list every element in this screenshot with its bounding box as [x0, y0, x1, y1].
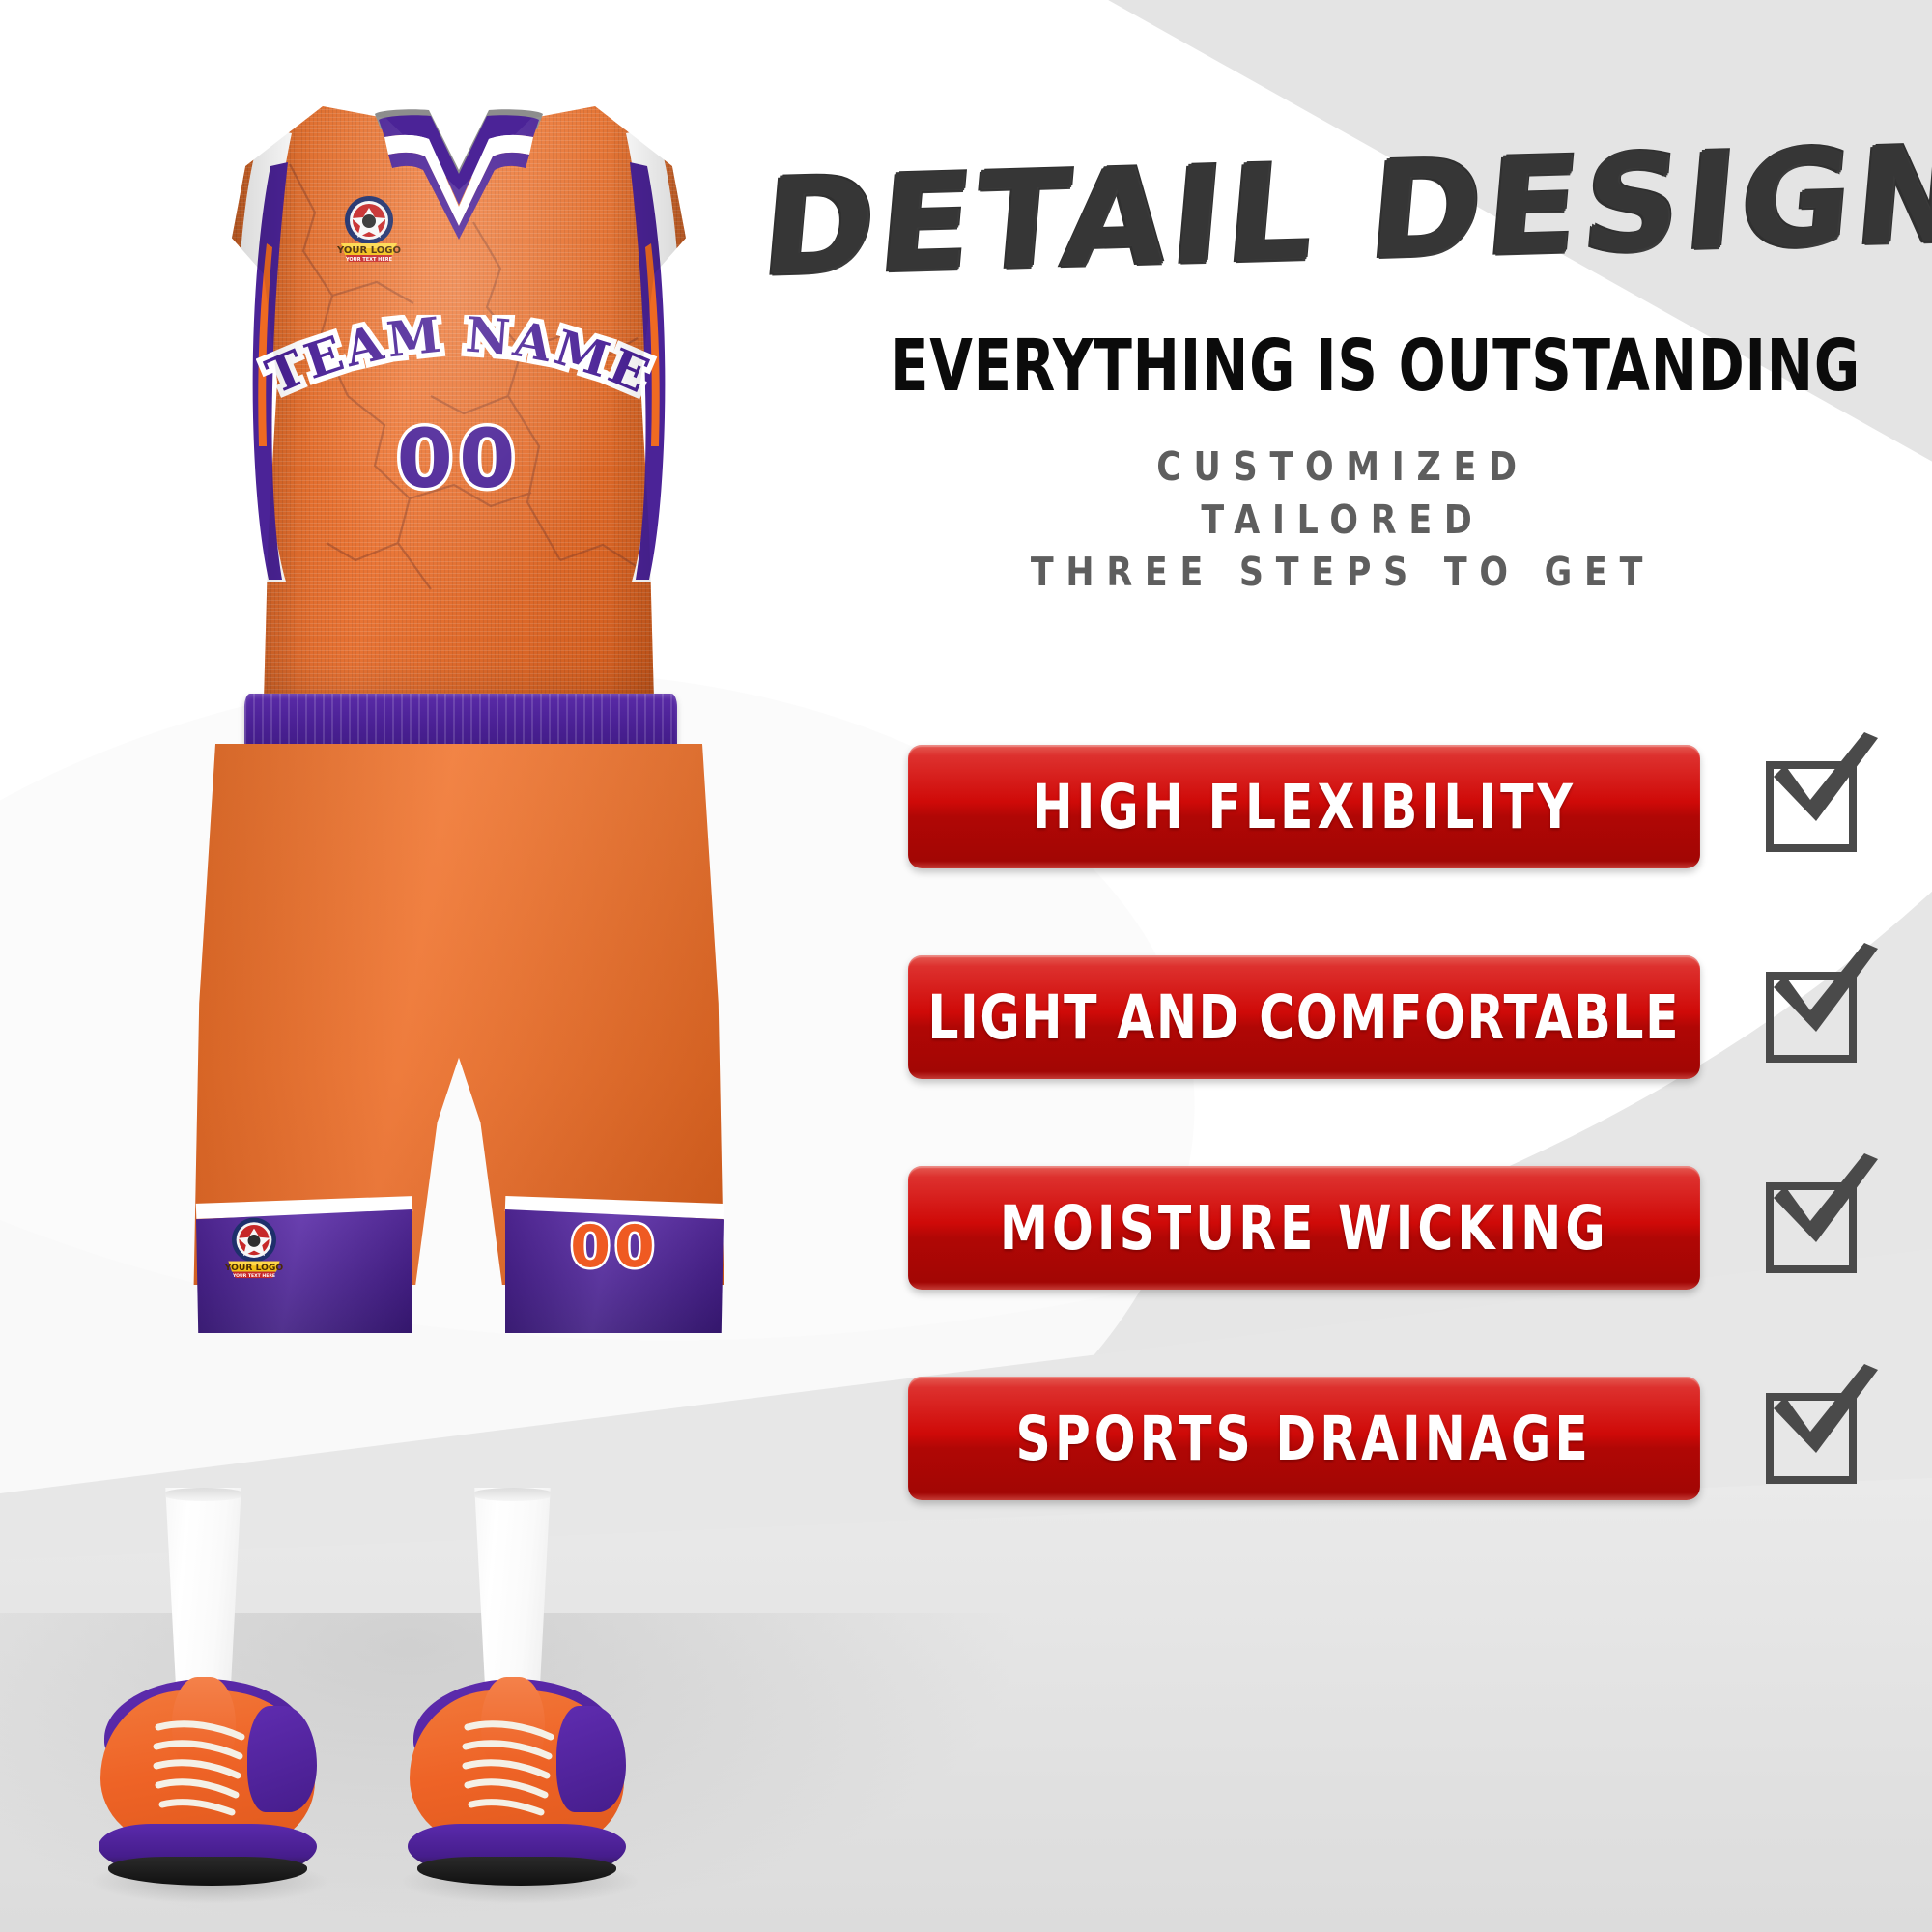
feature-label: MOISTURE WICKING: [1000, 1193, 1609, 1264]
shoe-heel: [556, 1706, 626, 1812]
tagline-line-2: TAILORED: [850, 494, 1835, 547]
shoes-mockup: [87, 1488, 763, 1903]
page-title: DETAIL DESIGN: [757, 128, 1928, 295]
shoe-right: [406, 1488, 628, 1893]
jersey-team-name-arc: TEAM NAME: [256, 315, 662, 408]
svg-text:YOUR LOGO: YOUR LOGO: [336, 245, 401, 256]
jersey-team-name-text: TEAM NAME: [258, 315, 659, 405]
uniform-mockup: YOUR LOGO YOUR TEXT HERE TEAM NAME 00: [188, 106, 729, 1323]
shoe-heel: [247, 1706, 317, 1812]
shoe-laces-icon: [458, 1716, 566, 1822]
check-icon: [1760, 939, 1886, 1055]
svg-text:YOUR TEXT HERE: YOUR TEXT HERE: [345, 257, 393, 263]
svg-text:YOUR TEXT HERE: YOUR TEXT HERE: [232, 1273, 275, 1279]
jersey-number: 00: [314, 412, 604, 506]
svg-text:YOUR LOGO: YOUR LOGO: [224, 1263, 284, 1273]
feature-bar-sports-drainage[interactable]: SPORTS DRAINAGE: [908, 1377, 1700, 1500]
feature-label: HIGH FLEXIBILITY: [1032, 772, 1577, 842]
headline-panel: DETAIL DESIGN EVERYTHING IS OUTSTANDING …: [763, 145, 1922, 599]
feature-bar-moisture-wicking[interactable]: MOISTURE WICKING: [908, 1166, 1700, 1290]
feature-list: HIGH FLEXIBILITY LIGHT AND COMFORTABLE: [908, 744, 1893, 1586]
shorts-mockup: YOUR LOGO YOUR TEXT HERE 00: [188, 744, 729, 1333]
page-subtitle: EVERYTHING IS OUTSTANDING: [891, 325, 1795, 408]
product-detail-banner: DETAIL DESIGN EVERYTHING IS OUTSTANDING …: [0, 0, 1932, 1932]
shoe-laces-icon: [149, 1716, 257, 1822]
shorts-number-text: 00: [570, 1213, 659, 1281]
check-box-icon: [1760, 744, 1886, 869]
check-icon: [1760, 1360, 1886, 1476]
tagline-group: CUSTOMIZED TAILORED THREE STEPS TO GET: [763, 440, 1922, 599]
feature-item-sports-drainage: SPORTS DRAINAGE: [908, 1376, 1893, 1501]
shoe-left: [97, 1488, 319, 1893]
feature-label: SPORTS DRAINAGE: [1016, 1404, 1592, 1474]
check-box-icon: [1760, 954, 1886, 1080]
check-icon: [1760, 1150, 1886, 1265]
jersey-mockup: YOUR LOGO YOUR TEXT HERE TEAM NAME 00: [232, 106, 686, 705]
feature-item-moisture-wicking: MOISTURE WICKING: [908, 1165, 1893, 1291]
feature-bar-high-flexibility[interactable]: HIGH FLEXIBILITY: [908, 745, 1700, 868]
check-icon: [1760, 728, 1886, 844]
check-box-icon: [1760, 1165, 1886, 1291]
jersey-number-text: 00: [397, 412, 522, 506]
feature-item-light-and-comfortable: LIGHT AND COMFORTABLE: [908, 954, 1893, 1080]
jersey-team-name: TEAM NAME: [256, 315, 662, 412]
feature-label: LIGHT AND COMFORTABLE: [928, 982, 1681, 1053]
tagline-line-1: CUSTOMIZED: [850, 440, 1835, 494]
feature-item-high-flexibility: HIGH FLEXIBILITY: [908, 744, 1893, 869]
feature-bar-light-and-comfortable[interactable]: LIGHT AND COMFORTABLE: [908, 955, 1700, 1079]
svg-text:TEAM NAME: TEAM NAME: [258, 315, 659, 405]
tagline-line-3: THREE STEPS TO GET: [850, 546, 1835, 599]
jersey-team-logo: YOUR LOGO YOUR TEXT HERE: [333, 191, 405, 263]
check-box-icon: [1760, 1376, 1886, 1501]
shorts-number: 00: [532, 1213, 696, 1281]
shorts-team-logo: YOUR LOGO YOUR TEXT HERE: [221, 1213, 287, 1279]
